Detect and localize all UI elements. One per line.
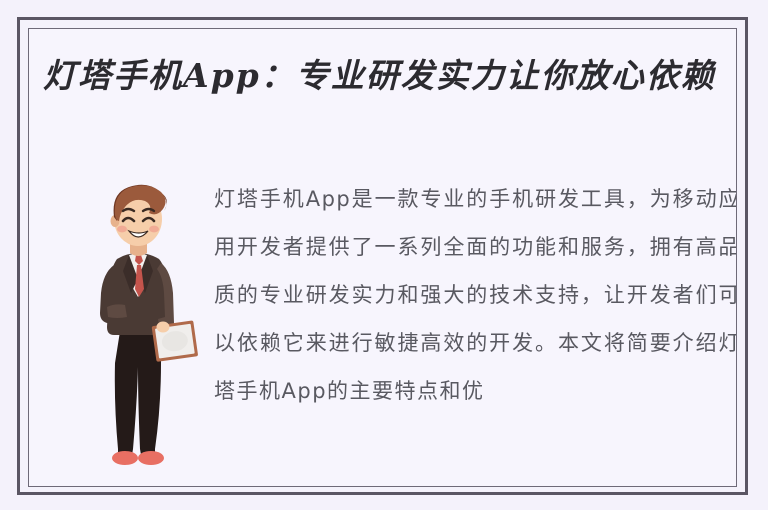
article-body: 灯塔手机App是一款专业的手机研发工具，为移动应用开发者提供了一系列全面的功能和… (214, 175, 737, 415)
article-card-page: 灯塔手机App：专业研发实力让你放心依赖 (0, 0, 768, 510)
left-shoe (112, 451, 138, 465)
right-shoe (138, 451, 164, 465)
pocket-hand (107, 304, 127, 318)
right-cheek (149, 226, 159, 233)
right-hand (157, 322, 170, 333)
trousers (115, 325, 161, 455)
businessman-illustration-svg (81, 177, 201, 477)
article-title: 灯塔手机App：专业研发实力让你放心依赖 (43, 51, 737, 101)
businessman-illustration (81, 177, 201, 477)
article-content-row: 灯塔手机App是一款专业的手机研发工具，为移动应用开发者提供了一系列全面的功能和… (29, 169, 737, 487)
inner-frame-border: 灯塔手机App：专业研发实力让你放心依赖 (28, 28, 737, 487)
left-cheek (117, 226, 127, 233)
